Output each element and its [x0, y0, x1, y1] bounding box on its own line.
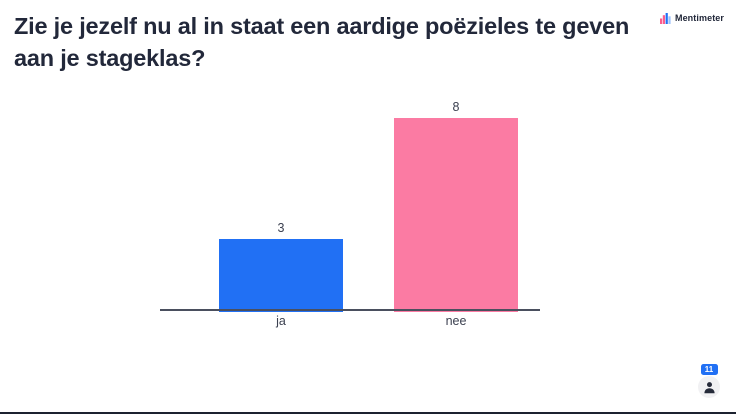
person-icon: [703, 381, 716, 394]
bar-category-label-nee: nee: [394, 314, 518, 328]
bar-ja: [219, 239, 343, 312]
bar-nee: [394, 118, 518, 312]
page-title: Zie je jezelf nu al in staat een aardige…: [14, 10, 634, 74]
chart-plot-area: 3 8: [160, 90, 540, 312]
bar-value-ja: 3: [219, 221, 343, 235]
mentimeter-logo: Mentimeter: [660, 13, 724, 24]
mentimeter-wordmark: Mentimeter: [675, 13, 724, 24]
mentimeter-bars-icon: [660, 13, 671, 24]
chart-axis-line: [160, 309, 540, 311]
bar-value-nee: 8: [394, 100, 518, 114]
avatar: [698, 376, 720, 398]
bar-chart: 3 8: [0, 90, 736, 340]
participant-count-badge: 11: [701, 364, 718, 375]
participant-counter[interactable]: 11: [695, 364, 723, 398]
presentation-slide: Zie je jezelf nu al in staat een aardige…: [0, 0, 736, 414]
bar-category-label-ja: ja: [219, 314, 343, 328]
